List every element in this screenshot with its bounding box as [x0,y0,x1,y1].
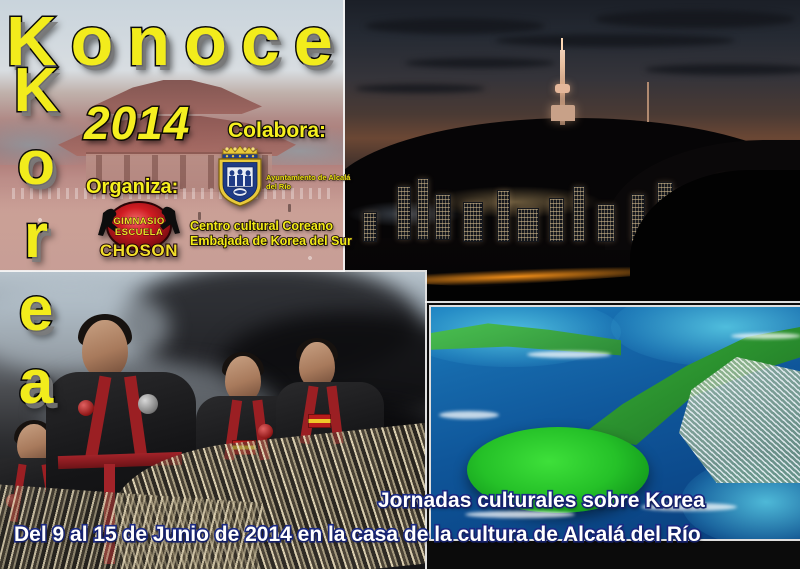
night-cloud [595,10,795,28]
choson-name-text: CHOSON [100,241,178,260]
choson-escuela-text: ESCUELA [115,227,163,238]
headline-dates-venue: Del 9 al 15 de Junio de 2014 en la casa … [14,523,701,547]
night-cloud [405,58,555,68]
skyscraper [463,202,483,242]
event-year: 2014 [84,96,190,150]
centro-cultural-line1: Centro cultural Coreano [190,219,352,234]
choson-gimnasio-text: GIMNASIO [113,216,164,227]
skyscraper [549,198,564,242]
night-cloud [645,64,800,75]
n-seoul-tower-observation-deck [555,84,570,93]
fighter-emblem-patch [138,394,158,414]
antenna-mast [647,82,649,122]
centro-cultural-block: Centro cultural Coreano Embajada de Kore… [190,219,352,249]
ayuntamiento-label: Ayuntamiento de Alcalá del Río [266,173,354,192]
headline-primary: Jornadas culturales sobre Korea [378,489,705,513]
vertical-letter-r: r [4,208,68,267]
skyscraper [363,212,377,242]
surf-line [439,411,499,419]
centro-cultural-line2: Embajada de Korea del Sur [190,234,352,249]
surf-line [731,333,800,339]
choson-gym-logo: GIMNASIO ESCUELA CHOSON [86,198,192,260]
poster-canvas: Konoce K o r e a 2014 Colabora: Organiza… [0,0,800,569]
vertical-letter-e: e [4,281,68,340]
skyscraper [435,194,451,240]
skyscraper [597,204,615,242]
organiza-label: Organiza: [86,176,178,199]
fighter-shoulder-patch [258,424,273,439]
vertical-letter-o: o [4,135,68,194]
fighter-shoulder-patch [78,400,94,416]
photo-seoul-night-skyline [345,0,800,301]
night-cloud [355,84,485,93]
palace-column [180,155,186,189]
surf-line [527,351,611,358]
skyscraper [517,208,539,242]
vertical-letter-a: a [4,354,68,413]
vertical-letter-k: K [4,62,68,121]
vertical-title-korea: K o r e a [4,62,68,426]
night-cloud [365,18,545,34]
n-seoul-tower-base [551,105,575,121]
skyscraper [417,178,429,240]
fighter-head [82,320,128,378]
skyscraper [397,186,411,240]
spanish-flag-patch [308,414,331,428]
colabora-label: Colabora: [228,119,326,143]
skyscraper [497,190,510,242]
ayuntamiento-coat-of-arms [214,141,266,209]
night-cloud [495,34,735,47]
skyscraper [573,186,585,242]
